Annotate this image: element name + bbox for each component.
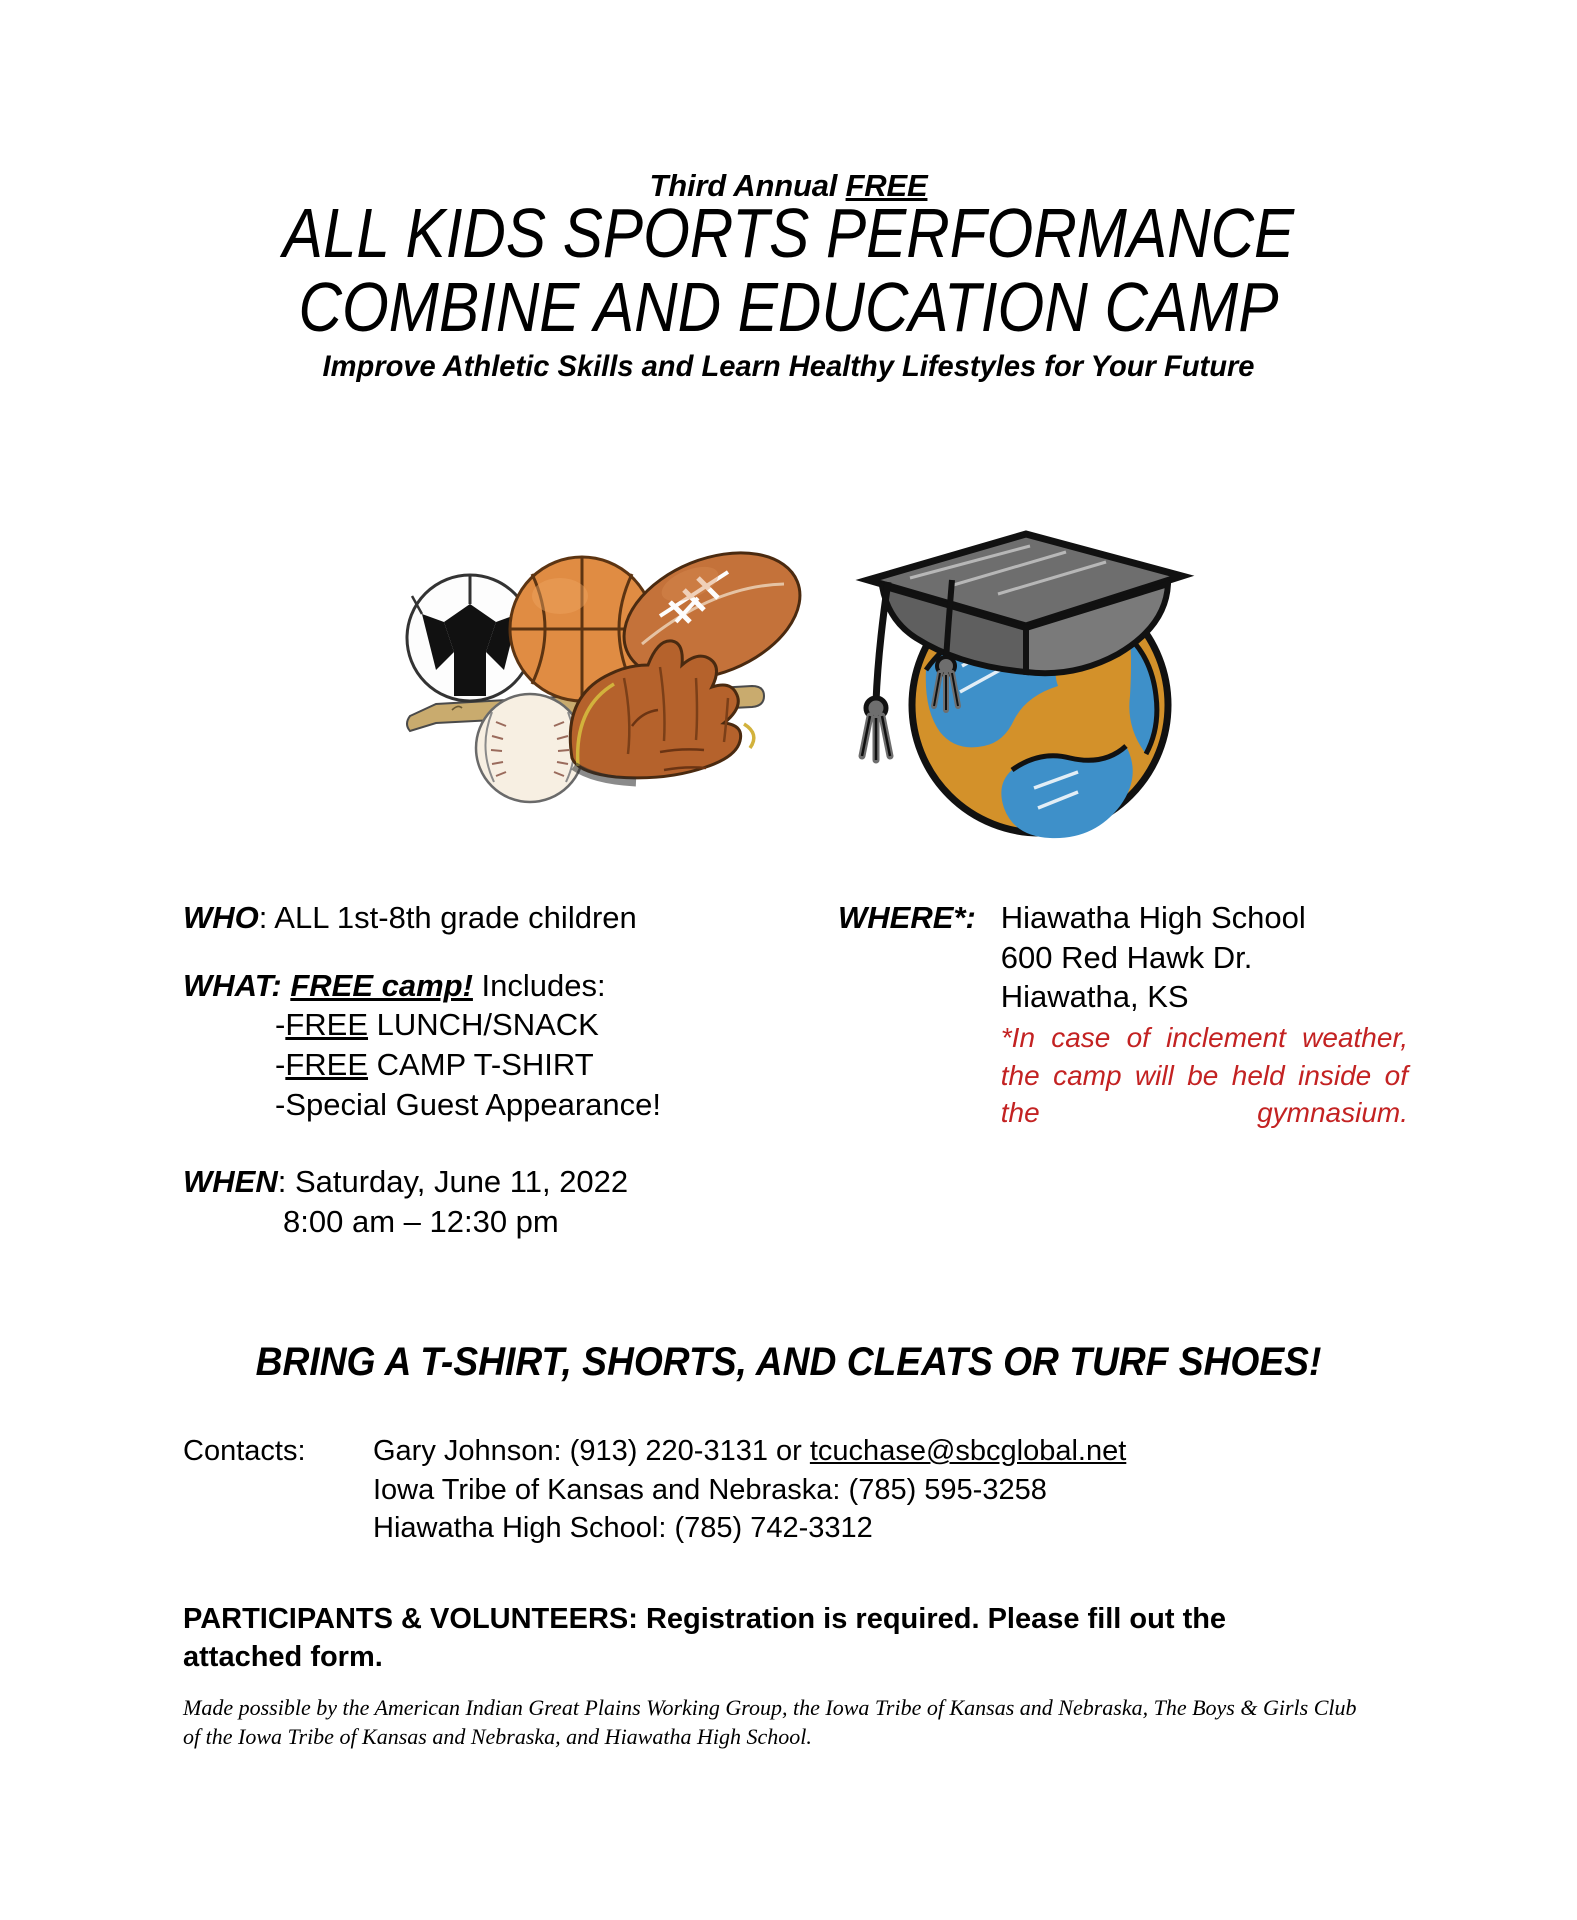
flyer-page: Third Annual FREE ALL KIDS SPORTS PERFOR… <box>0 0 1577 1920</box>
page-title-line-2: COMBINE AND EDUCATION CAMP <box>110 272 1466 342</box>
sports-equipment-illustration <box>392 526 822 846</box>
who-separator: : <box>259 900 275 935</box>
what-item-rest: Special Guest Appearance! <box>285 1087 661 1122</box>
inclement-weather-note: *In case of inclement weather, the camp … <box>1001 1019 1408 1169</box>
where-line: Hiawatha High School <box>1001 898 1408 938</box>
what-item-dash: - <box>275 1047 285 1082</box>
when-separator: : <box>278 1164 295 1199</box>
page-tagline: Improve Athletic Skills and Learn Health… <box>24 350 1554 384</box>
where-value: Hiawatha High School 600 Red Hawk Dr. Hi… <box>1001 898 1408 1169</box>
what-item: -Special Guest Appearance! <box>183 1085 843 1125</box>
what-headline: WHAT: FREE camp! Includes: <box>183 966 843 1006</box>
where-line: 600 Red Hawk Dr. <box>1001 938 1408 978</box>
what-label: WHAT <box>183 968 271 1003</box>
contact-email-link[interactable]: tcuchase@sbcglobal.net <box>810 1435 1126 1467</box>
where-label: WHERE*: <box>838 898 1001 938</box>
registration-note: PARTICIPANTS & VOLUNTEERS: Registration … <box>183 1600 1303 1677</box>
who-block: WHO: ALL 1st-8th grade children <box>183 898 843 938</box>
where-block: WHERE*: Hiawatha High School 600 Red Haw… <box>838 898 1408 1169</box>
when-time: 8:00 am – 12:30 pm <box>183 1202 843 1242</box>
what-item-dash: - <box>275 1007 285 1042</box>
who-label: WHO <box>183 900 259 935</box>
when-headline: WHEN: Saturday, June 11, 2022 <box>183 1162 843 1202</box>
contact-line: Iowa Tribe of Kansas and Nebraska: (785)… <box>373 1471 1383 1510</box>
what-item-underline: FREE <box>285 1007 368 1042</box>
when-label: WHEN <box>183 1164 278 1199</box>
contacts-label: Contacts: <box>183 1432 373 1471</box>
sponsor-credit: Made possible by the American Indian Gre… <box>183 1694 1373 1751</box>
where-line: Hiawatha, KS <box>1001 977 1408 1017</box>
contact-text: Hiawatha High School: (785) 742-3312 <box>373 1512 873 1544</box>
what-block: WHAT: FREE camp! Includes: -FREE LUNCH/S… <box>183 966 843 1125</box>
details-left-column: WHO: ALL 1st-8th grade children WHAT: FR… <box>183 898 843 1270</box>
what-highlight: FREE camp! <box>290 968 473 1003</box>
contact-text: Gary Johnson: (913) 220-3131 or <box>373 1435 810 1467</box>
contact-line: Hiawatha High School: (785) 742-3312 <box>373 1509 1383 1548</box>
what-item: -FREE CAMP T-SHIRT <box>183 1045 843 1085</box>
what-separator: : <box>271 968 290 1003</box>
who-value: ALL 1st-8th grade children <box>274 900 636 935</box>
when-block: WHEN: Saturday, June 11, 2022 8:00 am – … <box>183 1162 843 1241</box>
when-date: Saturday, June 11, 2022 <box>295 1164 628 1199</box>
contact-line: Gary Johnson: (913) 220-3131 or tcuchase… <box>373 1432 1383 1471</box>
bring-items-banner: BRING A T-SHIRT, SHORTS, AND CLEATS OR T… <box>55 1340 1522 1385</box>
what-item-dash: - <box>275 1087 285 1122</box>
what-item: -FREE LUNCH/SNACK <box>183 1005 843 1045</box>
what-item-underline: FREE <box>285 1047 368 1082</box>
graduation-globe-illustration <box>830 520 1195 850</box>
details-right-column: WHERE*: Hiawatha High School 600 Red Haw… <box>838 898 1408 1169</box>
contact-text: Iowa Tribe of Kansas and Nebraska: (785)… <box>373 1474 1047 1506</box>
contacts-section: Contacts: Gary Johnson: (913) 220-3131 o… <box>183 1432 1383 1548</box>
what-item-rest: LUNCH/SNACK <box>368 1007 599 1042</box>
baseball-icon <box>476 694 584 802</box>
page-title-line-1: ALL KIDS SPORTS PERFORMANCE <box>110 198 1466 268</box>
what-after: Includes: <box>473 968 606 1003</box>
what-item-rest: CAMP T-SHIRT <box>368 1047 594 1082</box>
